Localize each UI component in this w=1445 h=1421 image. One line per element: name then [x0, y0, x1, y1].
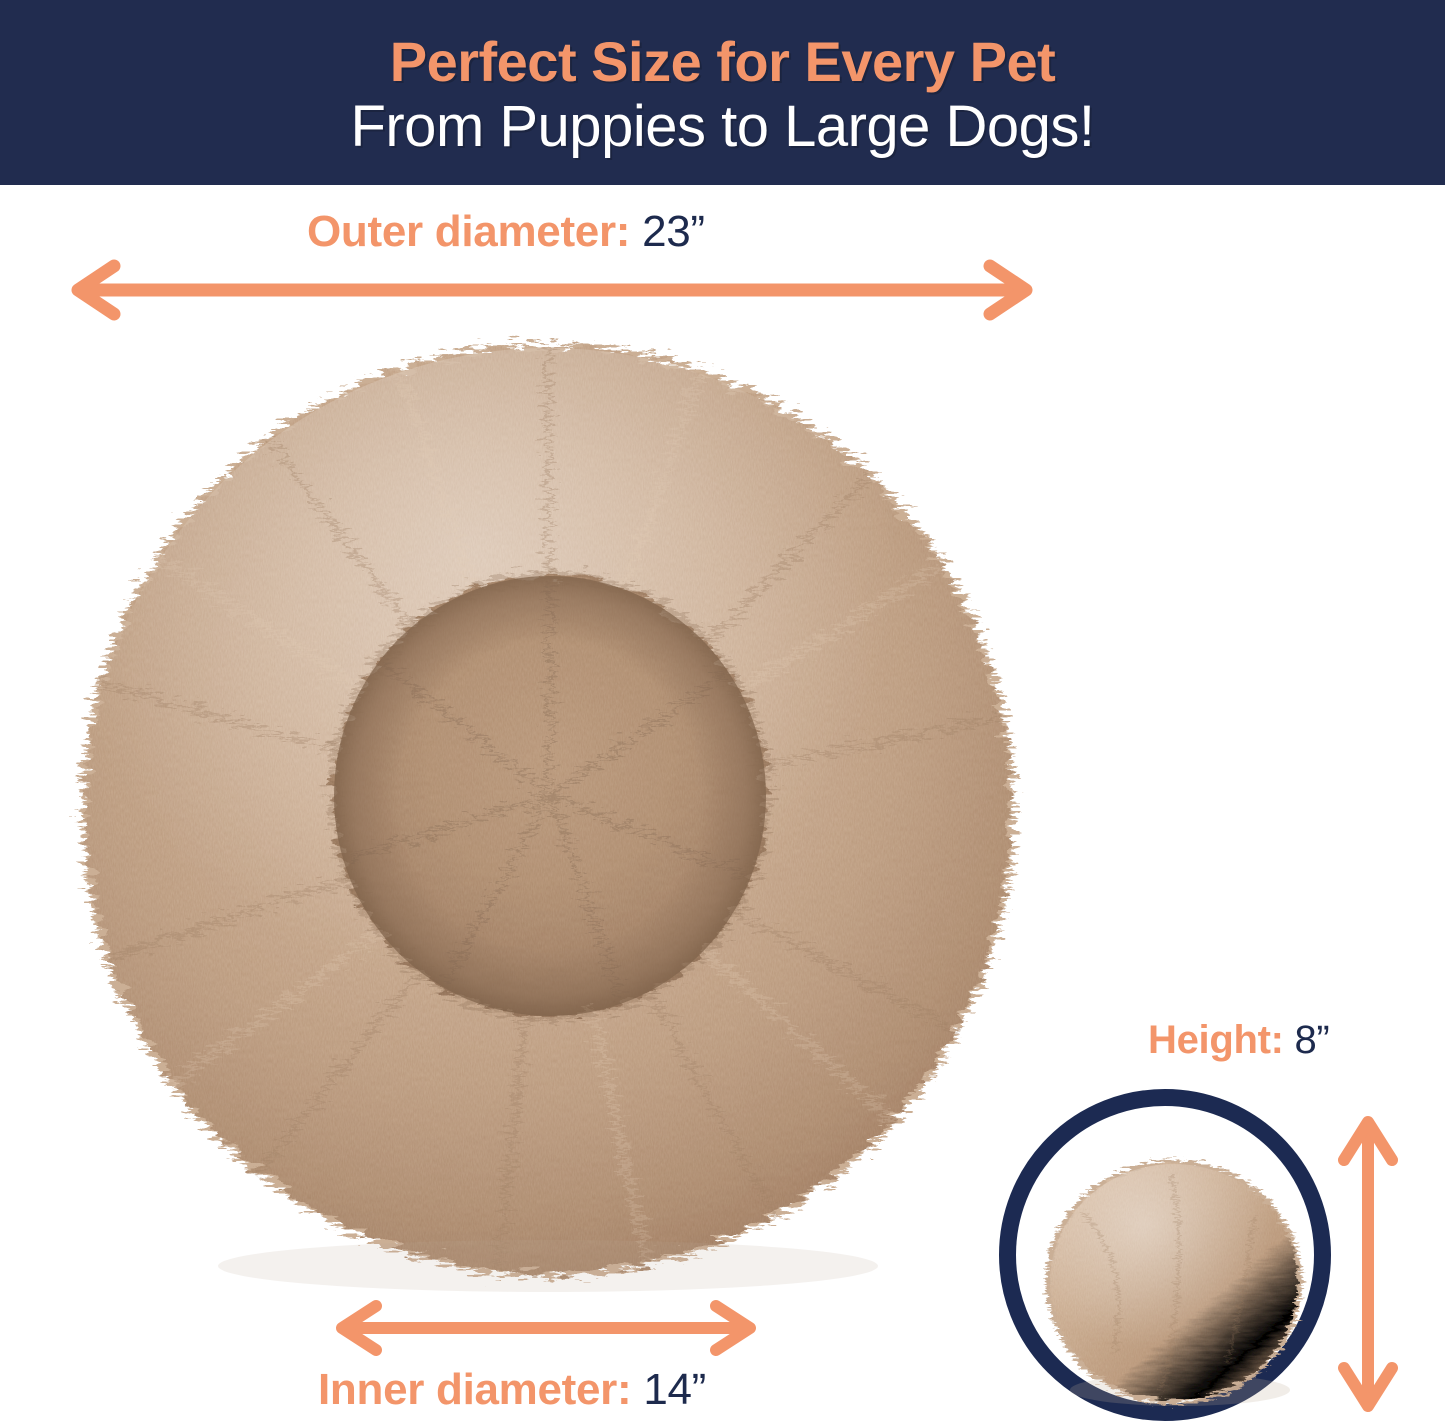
height-arrow-icon: [1336, 1108, 1400, 1418]
inner-diameter-arrow-icon: [328, 1302, 764, 1354]
banner-title: Perfect Size for Every Pet: [390, 33, 1056, 92]
pet-bed-top-view-image: [58, 318, 1038, 1303]
inner-diameter-value: 14”: [643, 1365, 706, 1414]
height-value: 8”: [1294, 1018, 1329, 1062]
outer-diameter-arrow-icon: [62, 262, 1042, 318]
header-banner: Perfect Size for Every Pet From Puppies …: [0, 0, 1445, 185]
infographic-page: Perfect Size for Every Pet From Puppies …: [0, 0, 1445, 1421]
pet-bed-side-view-image: [1022, 1142, 1322, 1421]
inner-diameter-label-text: Inner diameter:: [318, 1365, 631, 1414]
outer-diameter-label: Outer diameter: 23”: [307, 207, 705, 257]
height-label-text: Height:: [1148, 1018, 1284, 1062]
height-label: Height: 8”: [1148, 1018, 1329, 1063]
outer-diameter-value: 23”: [642, 207, 705, 256]
outer-diameter-label-text: Outer diameter:: [307, 207, 630, 256]
inner-diameter-label: Inner diameter: 14”: [318, 1365, 706, 1415]
banner-subtitle: From Puppies to Large Dogs!: [350, 96, 1094, 159]
